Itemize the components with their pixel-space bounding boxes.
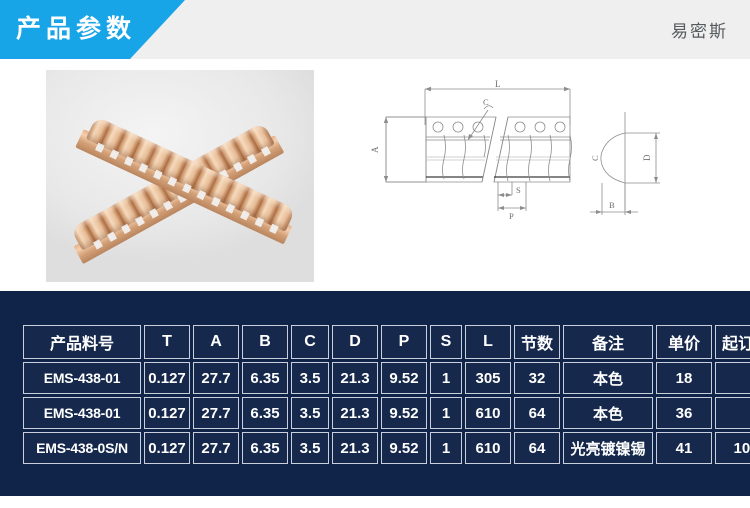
column-header-t: T — [144, 325, 190, 359]
cell-sections: 64 — [514, 397, 560, 429]
table-row: EMS-438-01 0.127 27.7 6.35 3.5 21.3 9.52… — [23, 362, 750, 394]
cell-remark: 光亮镀镍锡 — [563, 432, 653, 464]
cell-d: 21.3 — [332, 362, 378, 394]
cell-s: 1 — [430, 397, 462, 429]
column-header-c: C — [291, 325, 329, 359]
column-header-remark: 备注 — [563, 325, 653, 359]
drawing-svg: L A — [340, 65, 740, 285]
dimension-label-D: D — [642, 154, 652, 161]
dimension-label-B: B — [609, 200, 615, 210]
cell-moq — [715, 362, 750, 394]
cell-d: 21.3 — [332, 397, 378, 429]
spec-table: 产品料号 T A B C D P S L 节数 备注 单价 起订量 EMS-43… — [20, 322, 750, 467]
cell-a: 27.7 — [193, 432, 239, 464]
column-header-p: P — [381, 325, 427, 359]
brand-name: 易密斯 — [671, 0, 728, 59]
cell-remark: 本色 — [563, 362, 653, 394]
spec-panel: 产品料号 T A B C D P S L 节数 备注 单价 起订量 EMS-43… — [0, 291, 750, 496]
cell-p: 9.52 — [381, 397, 427, 429]
dimension-label-L: L — [495, 79, 501, 89]
cell-l: 305 — [465, 362, 511, 394]
column-header-unit-price: 单价 — [656, 325, 712, 359]
cell-s: 1 — [430, 432, 462, 464]
cell-c: 3.5 — [291, 432, 329, 464]
dimension-label-P: P — [509, 211, 514, 221]
cell-p: 9.52 — [381, 362, 427, 394]
cell-c: 3.5 — [291, 362, 329, 394]
header-banner: 产品参数 — [0, 0, 185, 59]
cell-p: 9.52 — [381, 432, 427, 464]
cell-t: 0.127 — [144, 397, 190, 429]
column-header-d: D — [332, 325, 378, 359]
table-header-row: 产品料号 T A B C D P S L 节数 备注 单价 起订量 — [23, 325, 750, 359]
column-header-part-no: 产品料号 — [23, 325, 141, 359]
cell-unit-price: 36 — [656, 397, 712, 429]
technical-drawing: L A — [340, 65, 740, 285]
product-photo — [46, 70, 314, 282]
cell-d: 21.3 — [332, 432, 378, 464]
cell-moq — [715, 397, 750, 429]
cell-t: 0.127 — [144, 432, 190, 464]
column-header-l: L — [465, 325, 511, 359]
cell-part-no: EMS-438-01 — [23, 362, 141, 394]
cell-unit-price: 18 — [656, 362, 712, 394]
dimension-label-C2: C — [590, 155, 600, 161]
cell-sections: 64 — [514, 432, 560, 464]
cell-s: 1 — [430, 362, 462, 394]
dimension-label-S: S — [516, 185, 521, 195]
cell-a: 27.7 — [193, 362, 239, 394]
page-title: 产品参数 — [16, 17, 136, 42]
cell-remark: 本色 — [563, 397, 653, 429]
cell-moq: 100 — [715, 432, 750, 464]
cell-unit-price: 41 — [656, 432, 712, 464]
page-header: 产品参数 易密斯 — [0, 0, 750, 59]
cell-a: 27.7 — [193, 397, 239, 429]
column-header-b: B — [242, 325, 288, 359]
column-header-s: S — [430, 325, 462, 359]
column-header-a: A — [193, 325, 239, 359]
cell-l: 610 — [465, 397, 511, 429]
cell-l: 610 — [465, 432, 511, 464]
cell-part-no: EMS-438-01 — [23, 397, 141, 429]
cell-b: 6.35 — [242, 362, 288, 394]
footer-spacer — [0, 496, 750, 508]
table-row: EMS-438-0S/N 0.127 27.7 6.35 3.5 21.3 9.… — [23, 432, 750, 464]
cell-c: 3.5 — [291, 397, 329, 429]
column-header-sections: 节数 — [514, 325, 560, 359]
column-header-moq: 起订量 — [715, 325, 750, 359]
cell-t: 0.127 — [144, 362, 190, 394]
cell-b: 6.35 — [242, 397, 288, 429]
cell-sections: 32 — [514, 362, 560, 394]
dimension-label-A: A — [370, 146, 380, 153]
table-row: EMS-438-01 0.127 27.7 6.35 3.5 21.3 9.52… — [23, 397, 750, 429]
cell-b: 6.35 — [242, 432, 288, 464]
dimension-label-C: C — [483, 97, 489, 107]
cell-part-no: EMS-438-0S/N — [23, 432, 141, 464]
media-row: L A — [0, 59, 750, 291]
